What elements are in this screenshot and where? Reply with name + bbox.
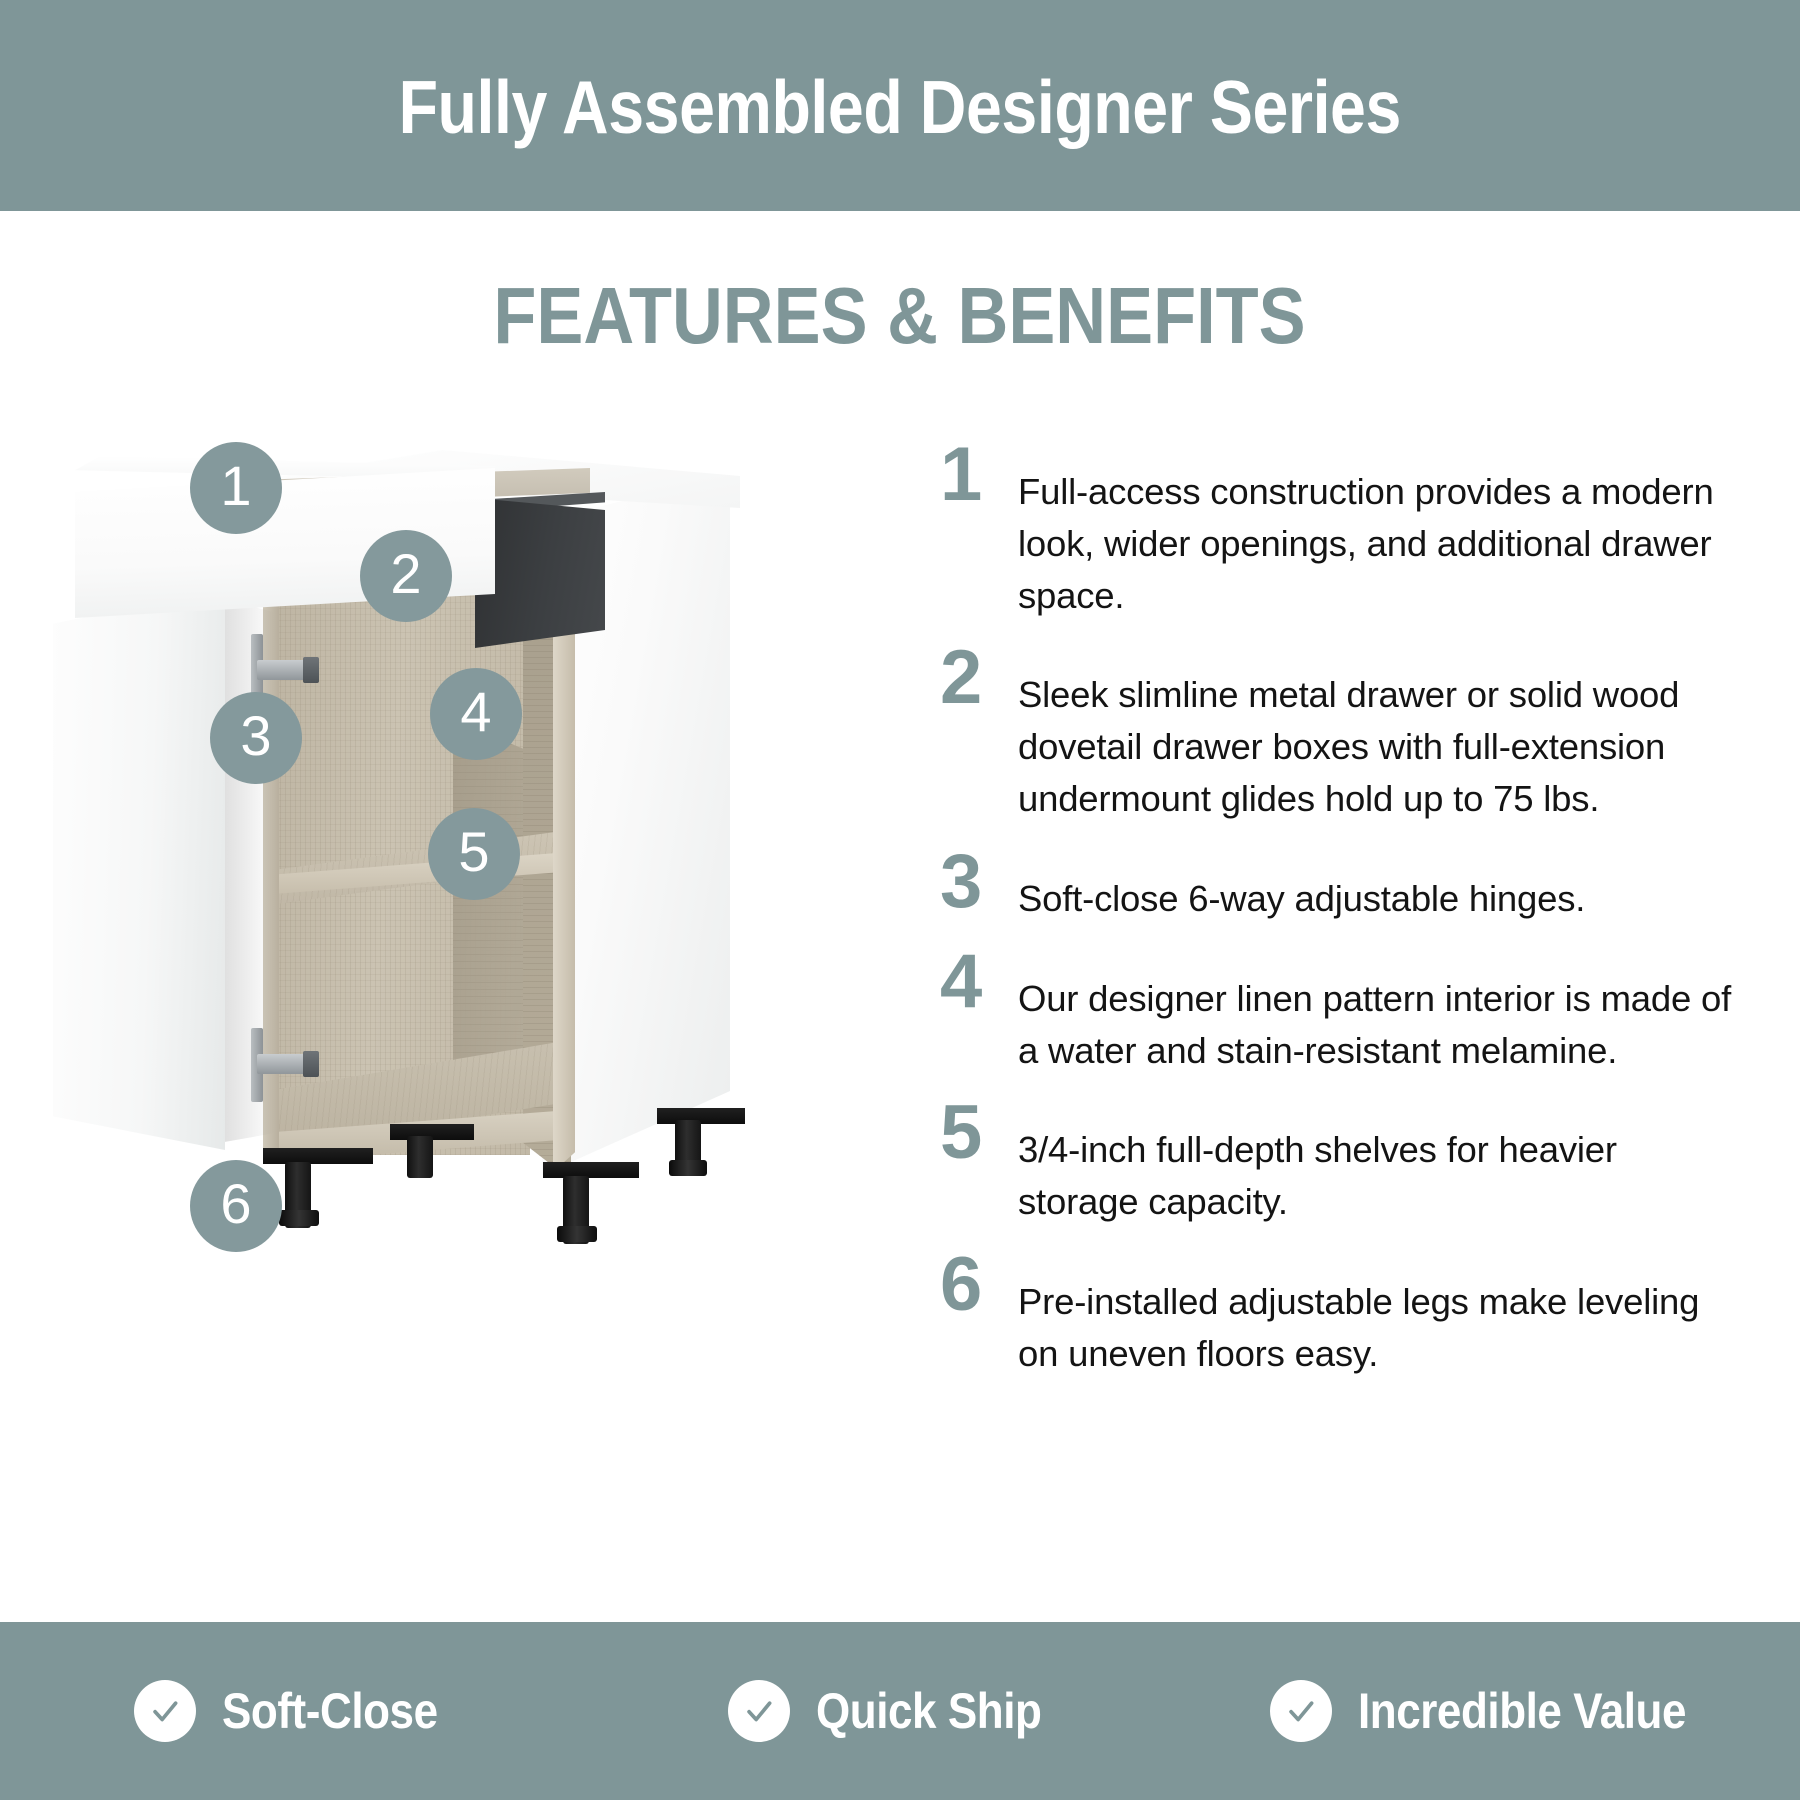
check-circle-icon xyxy=(1270,1680,1332,1742)
section-heading: FEATURES & BENEFITS xyxy=(0,276,1800,356)
callout-badge-5-number: 5 xyxy=(458,824,489,880)
callout-badge-1-number: 1 xyxy=(220,458,251,514)
callout-badge-6[interactable]: 6 xyxy=(190,1160,282,1252)
main-content: 1 2 3 4 5 6 1 Full-access construction p… xyxy=(0,420,1800,1600)
footer-badge-soft-close: Soft-Close xyxy=(0,1680,600,1742)
feature-5-text: 3/4-inch full-depth shelves for heavier … xyxy=(1018,1100,1740,1228)
feature-6-text: Pre-installed adjustable legs make level… xyxy=(1018,1252,1740,1380)
hinge-lower-arm xyxy=(257,1054,309,1074)
check-circle-icon xyxy=(134,1680,196,1742)
feature-item-3: 3 Soft-close 6-way adjustable hinges. xyxy=(940,849,1740,925)
callout-badge-2-number: 2 xyxy=(390,546,421,602)
callout-badge-5[interactable]: 5 xyxy=(428,808,520,900)
hinge-upper-arm xyxy=(257,660,309,680)
leg-shaft-back-left xyxy=(407,1136,433,1178)
feature-4-number: 4 xyxy=(940,949,1018,1014)
callout-badge-1[interactable]: 1 xyxy=(190,442,282,534)
feature-3-number: 3 xyxy=(940,849,1018,914)
feature-1-text: Full-access construction provides a mode… xyxy=(1018,442,1740,621)
feature-1-number: 1 xyxy=(940,442,1018,507)
footer-badge-quick-ship: Quick Ship xyxy=(600,1680,1200,1742)
callout-badge-3[interactable]: 3 xyxy=(210,692,302,784)
feature-4-text: Our designer linen pattern interior is m… xyxy=(1018,949,1740,1077)
feature-item-4: 4 Our designer linen pattern interior is… xyxy=(940,949,1740,1077)
feature-6-number: 6 xyxy=(940,1252,1018,1317)
feature-item-1: 1 Full-access construction provides a mo… xyxy=(940,442,1740,621)
leg-bracket-front-right xyxy=(543,1162,639,1178)
leg-collar-front-right xyxy=(557,1226,597,1242)
leg-collar-back-right xyxy=(669,1160,707,1176)
callout-badge-4[interactable]: 4 xyxy=(430,668,522,760)
footer-label-soft-close: Soft-Close xyxy=(222,1682,438,1740)
feature-item-6: 6 Pre-installed adjustable legs make lev… xyxy=(940,1252,1740,1380)
features-list: 1 Full-access construction provides a mo… xyxy=(940,442,1740,1404)
page-title: Fully Assembled Designer Series xyxy=(399,66,1401,145)
feature-3-text: Soft-close 6-way adjustable hinges. xyxy=(1018,849,1740,925)
footer-label-quick-ship: Quick Ship xyxy=(816,1682,1041,1740)
callout-badge-4-number: 4 xyxy=(460,684,491,740)
hinge-lower-cup xyxy=(303,1051,319,1077)
cabinet-stage: 1 2 3 4 5 6 xyxy=(45,420,805,1440)
footer-label-incredible-value: Incredible Value xyxy=(1358,1682,1686,1740)
feature-5-number: 5 xyxy=(940,1100,1018,1165)
feature-2-text: Sleek slimline metal drawer or solid woo… xyxy=(1018,645,1740,824)
leg-bracket-back-right xyxy=(657,1108,745,1124)
header-bar: Fully Assembled Designer Series xyxy=(0,0,1800,211)
footer-bar: Soft-Close Quick Ship Incredible Value xyxy=(0,1622,1800,1800)
section-heading-label: FEATURES & BENEFITS xyxy=(494,276,1306,356)
leg-collar-front-left xyxy=(279,1210,319,1226)
product-illustration: 1 2 3 4 5 6 xyxy=(45,420,805,1440)
feature-item-5: 5 3/4-inch full-depth shelves for heavie… xyxy=(940,1100,1740,1228)
check-circle-icon xyxy=(728,1680,790,1742)
callout-badge-2[interactable]: 2 xyxy=(360,530,452,622)
cabinet-door xyxy=(53,590,225,1150)
feature-2-number: 2 xyxy=(940,645,1018,710)
callout-badge-3-number: 3 xyxy=(240,708,271,764)
hinge-upper-cup xyxy=(303,657,319,683)
callout-badge-6-number: 6 xyxy=(220,1176,251,1232)
footer-badge-incredible-value: Incredible Value xyxy=(1200,1680,1800,1742)
leg-bracket-front-left xyxy=(263,1148,373,1164)
feature-item-2: 2 Sleek slimline metal drawer or solid w… xyxy=(940,645,1740,824)
